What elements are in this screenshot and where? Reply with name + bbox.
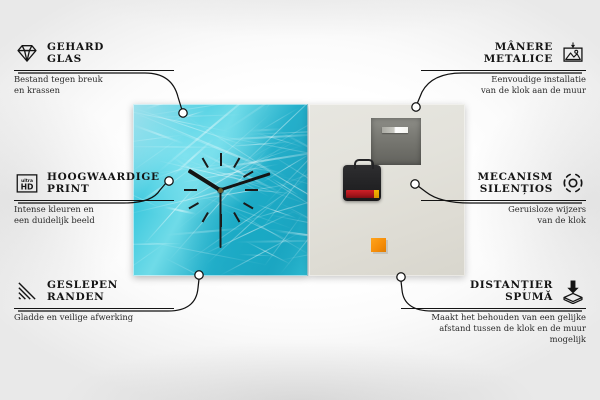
feature-rule [421,200,586,201]
feature-rule [14,308,174,309]
feature-title: GEHARD GLAS [47,41,104,66]
gear-icon [560,170,586,196]
feature-title: GESLEPEN RANDEN [47,279,118,304]
infographic-canvas: GEHARD GLAS Bestand tegen breuk en krass… [0,0,600,400]
feature-foam-spacer: DISTANȚIER SPUMĂ Maakt het behouden van … [401,278,586,345]
battery [346,190,378,198]
feature-title: MECANISM SILENȚIOS [478,171,553,196]
ultra-hd-icon: ultra HD [14,170,40,196]
feature-rule [421,70,586,71]
feature-description: Geruisloze wijzers van de klok [421,204,586,226]
feature-polished-edges: GESLEPEN RANDEN Gladde en veilige afwerk… [14,278,179,323]
metal-hanger [371,118,421,165]
clock-second-hand [220,190,222,248]
feature-header: DISTANȚIER SPUMĂ [401,278,586,304]
feature-header: ultra HD HOOGWAARDIGE PRINT [14,170,179,196]
feature-silent-mechanism: MECANISM SILENȚIOS Geruisloze wijzers va… [421,170,586,226]
feature-description: Bestand tegen breuk en krassen [14,74,179,96]
feature-header: MECANISM SILENȚIOS [421,170,586,196]
feature-rule [14,70,174,71]
feature-header: GEHARD GLAS [14,40,179,66]
clock-center-pivot [218,188,223,193]
feature-header: MÂNERE METALICE [421,40,586,66]
feature-description: Maakt het behouden van een gelijke afsta… [401,312,586,346]
feature-rule [401,308,586,309]
feature-description: Eenvoudige installatie van de klok aan d… [421,74,586,96]
feature-tempered-glass: GEHARD GLAS Bestand tegen breuk en krass… [14,40,179,96]
feature-title: DISTANȚIER SPUMĂ [470,279,553,304]
feature-rule [14,200,174,201]
press-down-icon [560,278,586,304]
feature-metal-handles: MÂNERE METALICE Eenvoudige installatie v… [421,40,586,96]
product-image [133,104,465,276]
feature-header: GESLEPEN RANDEN [14,278,179,304]
diagonal-lines-icon [14,278,40,304]
feature-title: MÂNERE METALICE [484,41,553,66]
feature-title: HOOGWAARDIGE PRINT [47,171,160,196]
framed-picture-icon [560,40,586,66]
clock-mechanism [343,165,381,201]
feature-high-quality-print: ultra HD HOOGWAARDIGE PRINT Intense kleu… [14,170,179,226]
diamond-icon [14,40,40,66]
svg-text:HD: HD [21,183,34,192]
foam-spacer-piece [371,238,386,252]
feature-description: Intense kleuren en een duidelijk beeld [14,204,179,226]
feature-description: Gladde en veilige afwerking [14,312,179,323]
